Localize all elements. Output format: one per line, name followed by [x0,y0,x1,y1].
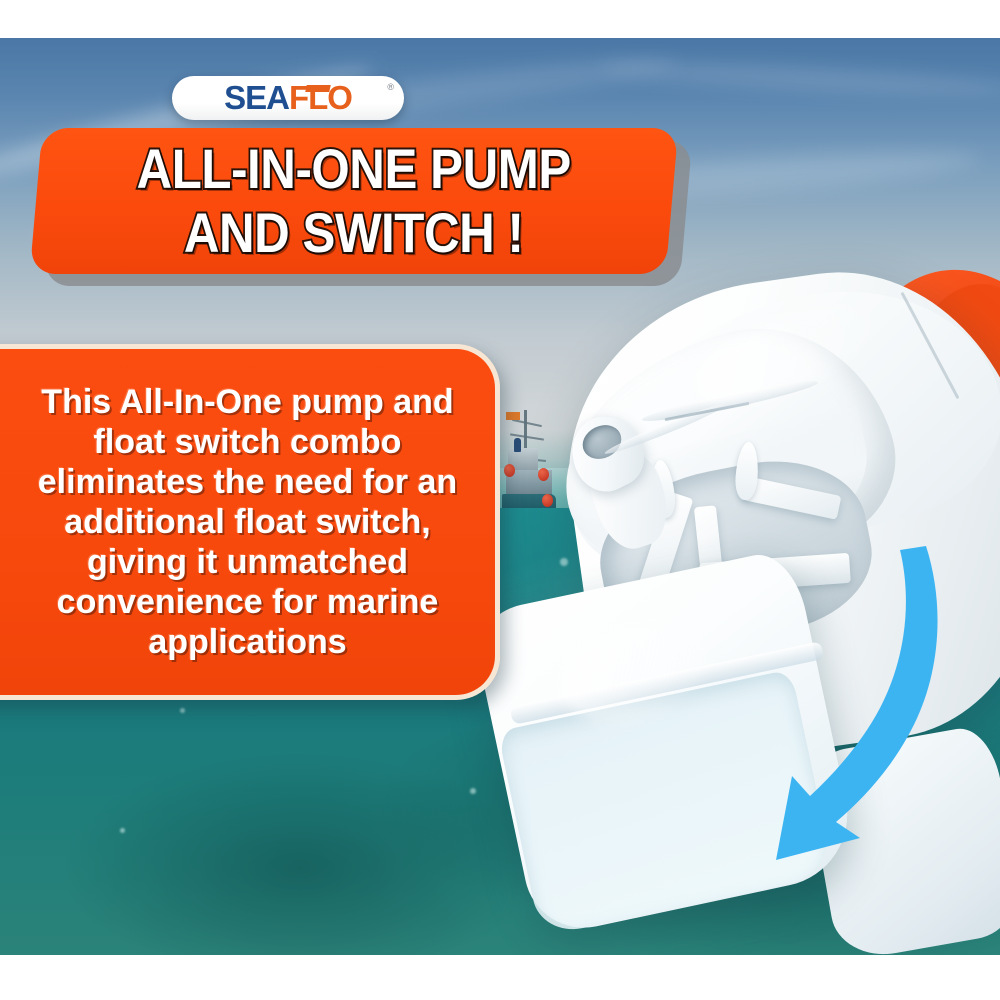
headline-line-1: ALL-IN-ONE PUMP [137,141,571,197]
description-text: This All-In-One pump and float switch co… [0,382,495,663]
headline-text-block: ALL-IN-ONE PUMP AND SWITCH ! [107,141,600,261]
logo-a-accent-bar [305,85,330,92]
seaflo-logo-badge: SEAFLO ® [172,76,404,120]
top-white-band [0,0,1000,38]
logo-text-sea: SEA [224,79,289,116]
seaflo-wordmark: SEAFLO [224,81,352,114]
promo-image-canvas: SEAFLO ® ALL-IN-ONE PUMP AND SWITCH ! Th… [0,0,1000,1000]
headline-line-2: AND SWITCH ! [137,205,571,261]
headline-banner: ALL-IN-ONE PUMP AND SWITCH ! [30,128,679,274]
curved-down-left-arrow [740,538,980,878]
headline-banner-wrap: ALL-IN-ONE PUMP AND SWITCH ! [36,128,716,288]
description-panel: This All-In-One pump and float switch co… [0,344,500,700]
bottom-white-band [0,955,1000,1000]
registered-trademark-icon: ® [387,82,394,92]
